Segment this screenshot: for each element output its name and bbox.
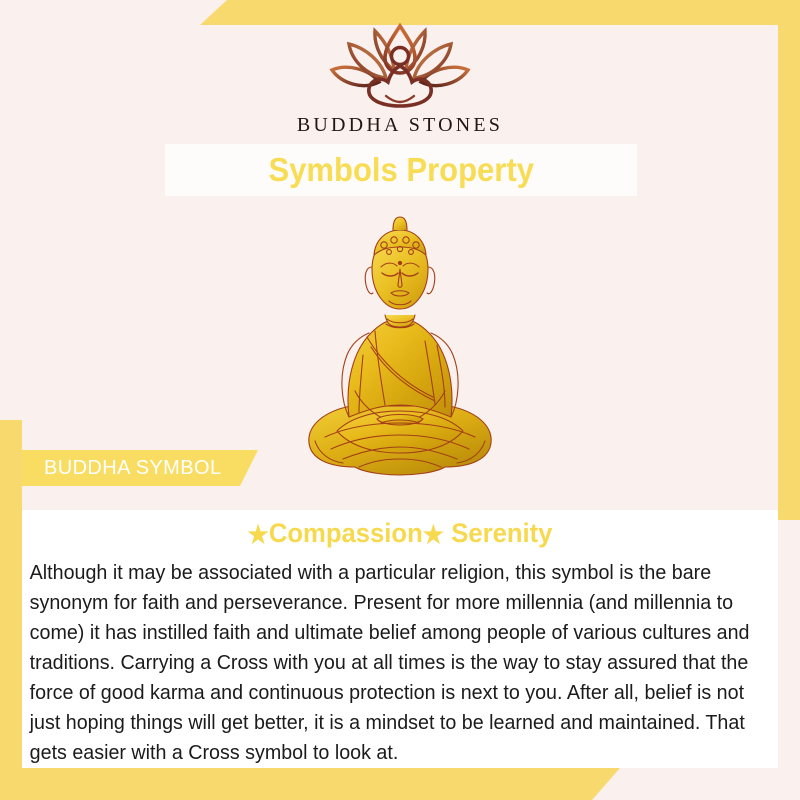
brand-wordmark: BUDDHA STONES bbox=[0, 114, 800, 137]
content-paragraph: Although it may be associated with a par… bbox=[22, 550, 784, 768]
bottom-accent-band bbox=[0, 768, 620, 800]
hero-image bbox=[0, 200, 800, 490]
section-ribbon: BUDDHA SYMBOL bbox=[22, 450, 258, 486]
seated-golden-buddha-statue-icon bbox=[285, 205, 515, 490]
title-banner: Symbols Property bbox=[165, 144, 637, 196]
subtitle-word-serenity: Serenity bbox=[451, 518, 552, 548]
star-icon-1: ★ bbox=[248, 521, 269, 549]
content-subtitle: ★Compassion★ Serenity bbox=[41, 510, 759, 550]
subtitle-word-compassion: Compassion bbox=[269, 518, 423, 548]
page-title: Symbols Property bbox=[268, 151, 533, 189]
star-icon-2: ★ bbox=[423, 521, 444, 549]
poster-root: BUDDHA STONES Symbols Property bbox=[0, 0, 800, 800]
brand-logo: BUDDHA STONES bbox=[0, 22, 800, 137]
content-panel: ★Compassion★ Serenity Although it may be… bbox=[22, 510, 778, 768]
ribbon-label: BUDDHA SYMBOL bbox=[22, 457, 221, 480]
lotus-meditation-icon bbox=[316, 22, 484, 110]
